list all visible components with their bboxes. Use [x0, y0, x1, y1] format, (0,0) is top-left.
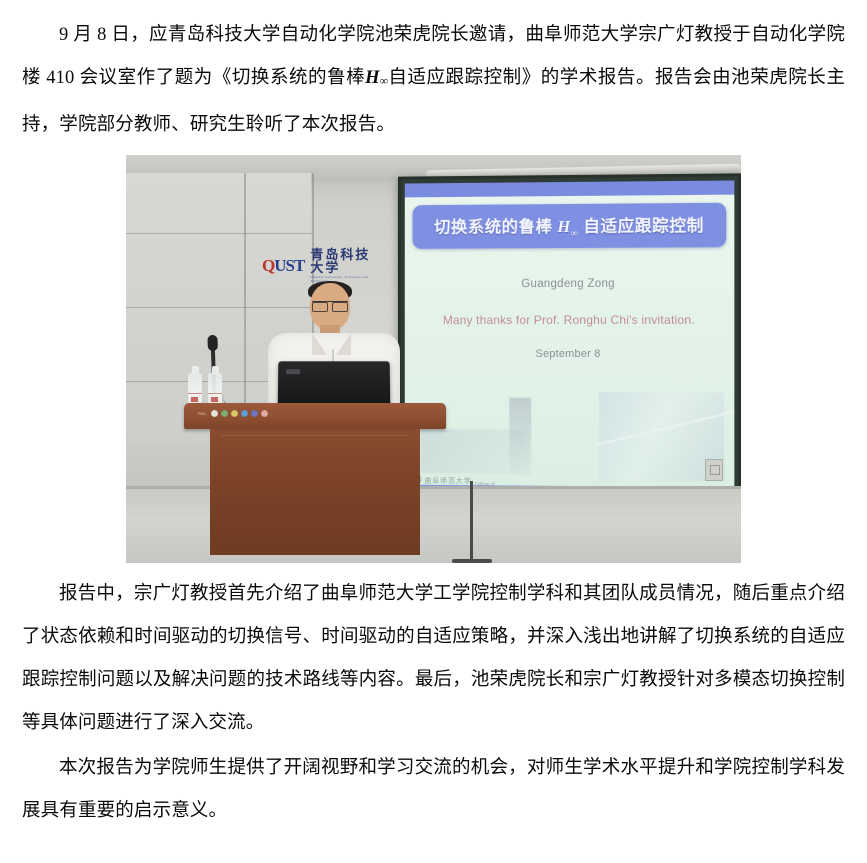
projection-screen: 切换系统的鲁棒 H∞ 自适应跟踪控制 Guangdeng Zong Many t… — [405, 180, 735, 502]
slide-h-infinity: H∞ — [557, 216, 578, 235]
slide-title: 切换系统的鲁棒 H∞ 自适应跟踪控制 — [434, 212, 704, 240]
slide-decorative-image-mid — [509, 398, 531, 476]
slide-title-pre: 切换系统的鲁棒 — [434, 217, 557, 237]
tripod-stand-rod — [470, 481, 473, 563]
qust-logo-ust: UST — [274, 256, 304, 275]
slide-top-band — [405, 180, 735, 197]
speaker-collar-right — [336, 333, 351, 355]
slide-h-base: H — [557, 217, 570, 236]
slide-title-post: 自适应跟踪控制 — [579, 216, 704, 236]
podium: PAD — [184, 403, 446, 555]
slide-title-bar: 切换系统的鲁棒 H∞ 自适应跟踪控制 — [413, 202, 727, 248]
podium-brand-label: PAD — [198, 411, 206, 416]
paragraph-intro: 9 月 8 日，应青岛科技大学自动化学院池荣虎院长邀请，曲阜师范大学宗广灯教授于… — [22, 14, 845, 147]
podium-button[interactable] — [221, 410, 228, 417]
qust-logo-text: 青岛科技大学 Qingdao University of Science and… — [310, 248, 384, 283]
wall-seam — [126, 233, 312, 235]
podium-button[interactable] — [241, 410, 248, 417]
slide-h-subscript: ∞ — [571, 228, 579, 239]
tripod-stand-foot — [452, 559, 492, 563]
h-infinity-formula: H∞ — [365, 68, 388, 88]
podium-button[interactable] — [231, 410, 238, 417]
slide-date: September 8 — [405, 348, 735, 360]
photo-container: QUST 青岛科技大学 Qingdao University of Scienc… — [22, 155, 845, 563]
podium-button[interactable] — [211, 410, 218, 417]
speaker-collar-left — [312, 333, 327, 355]
podium-body — [210, 429, 420, 555]
paragraph-conclusion: 本次报告为学院师生提供了开阔视野和学习交流的机会，对师生学术水平提升和学院控制学… — [22, 747, 845, 833]
podium-control-panel: PAD — [198, 410, 268, 417]
slide-thanks-line: Many thanks for Prof. Ronghu Chi's invit… — [405, 312, 735, 326]
podium-button[interactable] — [251, 410, 258, 417]
h-infinity-base: H — [365, 68, 380, 88]
qust-logo-q: Q — [262, 256, 274, 275]
projection-screen-frame: 切换系统的鲁棒 H∞ 自适应跟踪控制 Guangdeng Zong Many t… — [398, 173, 741, 509]
lecture-photo: QUST 青岛科技大学 Qingdao University of Scienc… — [126, 155, 741, 563]
qust-wall-logo: QUST 青岛科技大学 Qingdao University of Scienc… — [262, 251, 384, 281]
document-page: 9 月 8 日，应青岛科技大学自动化学院池荣虎院长邀请，曲阜师范大学宗广灯教授于… — [0, 14, 867, 863]
speaker-glasses — [312, 301, 348, 310]
paragraph-report-content: 报告中，宗广灯教授首先介绍了曲阜师范大学工学院控制学科和其团队成员情况，随后重点… — [22, 573, 845, 745]
wall-outlet — [705, 459, 723, 481]
slide-author: Guangdeng Zong — [405, 277, 735, 290]
qust-chinese-name: 青岛科技大学 — [310, 248, 384, 274]
h-infinity-subscript: ∞ — [380, 76, 388, 88]
podium-button[interactable] — [261, 410, 268, 417]
qust-logo-mark: QUST — [262, 257, 304, 274]
